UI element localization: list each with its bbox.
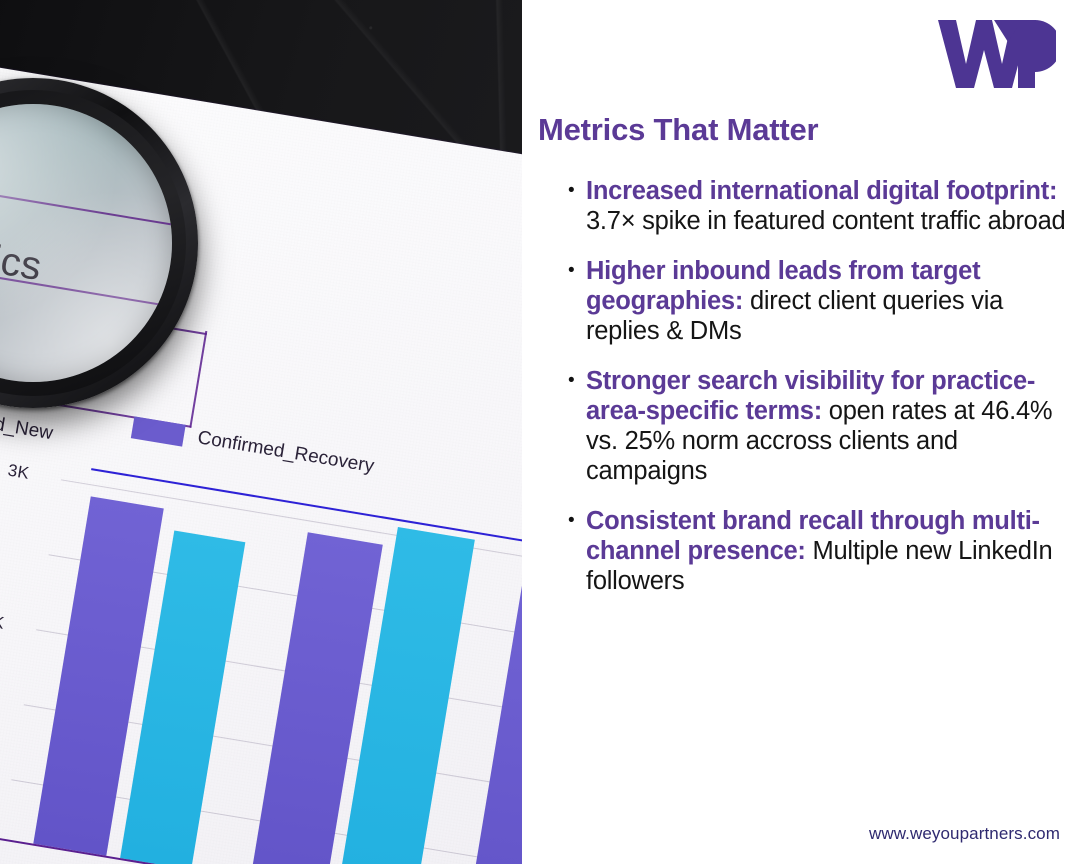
bullet-dot-icon: •	[568, 256, 586, 346]
printed-bar-chart: Confirmed_New Confirmed_Recovery	[0, 375, 522, 864]
lens-reflection	[0, 104, 172, 382]
content-panel: Metrics That Matter • Increased internat…	[522, 0, 1080, 864]
bullet-text: Stronger search visibility for practice-…	[586, 366, 1080, 486]
wyp-logo-icon	[936, 16, 1056, 92]
bullet-lead: Increased international digital footprin…	[586, 177, 1057, 205]
photo-panel: Confirmed_New Confirmed_Recovery	[0, 0, 522, 864]
list-item: • Increased international digital footpr…	[568, 176, 1080, 236]
bullet-dot-icon: •	[568, 366, 586, 486]
ytick-3k: 3K	[6, 461, 30, 484]
bullet-dot-icon: •	[568, 176, 586, 236]
bullet-text: Increased international digital footprin…	[586, 176, 1080, 236]
plot-area	[2, 385, 522, 864]
bullet-dot-icon: •	[568, 506, 586, 596]
list-item: • Stronger search visibility for practic…	[568, 366, 1080, 486]
list-item: • Consistent brand recall through multi-…	[568, 506, 1080, 596]
ytick-2k: 2K	[0, 611, 6, 634]
page-title: Metrics That Matter	[538, 112, 818, 148]
list-item: • Higher inbound leads from target geogr…	[568, 256, 1080, 346]
slide-root: Confirmed_New Confirmed_Recovery	[0, 0, 1080, 864]
bullet-list: • Increased international digital footpr…	[568, 176, 1080, 616]
magnifying-glass-icon: d Metrics	[0, 78, 198, 408]
bullet-text: Higher inbound leads from target geograp…	[586, 256, 1080, 346]
loupe-lens: d Metrics	[0, 104, 172, 382]
bullet-text: Consistent brand recall through multi-ch…	[586, 506, 1080, 596]
bar-recovery-3	[467, 568, 522, 864]
website-url[interactable]: www.weyoupartners.com	[869, 824, 1060, 844]
bullet-rest: 3.7× spike in featured content traffic a…	[586, 207, 1065, 235]
